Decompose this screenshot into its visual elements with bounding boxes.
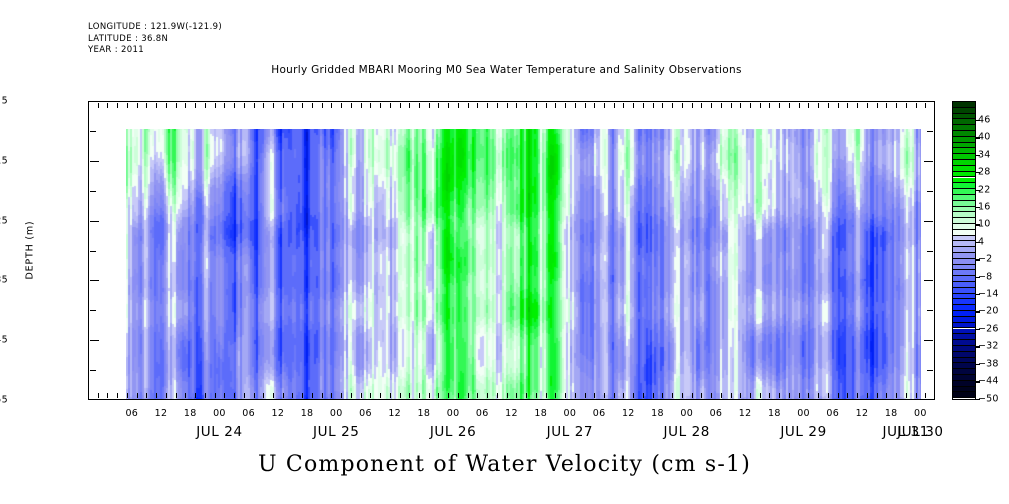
axis-tick [633,393,634,398]
axis-tick [117,393,118,398]
axis-tick [924,340,933,341]
axis-tick [769,393,770,398]
axis-tick [526,393,527,398]
axis-tick [263,393,264,398]
colorbar-tick [975,364,980,365]
axis-tick [322,393,323,398]
x-axis-hour-label: 06 [826,408,839,419]
axis-tick [146,393,147,398]
axis-tick [877,393,878,398]
x-axis-hour-label: 06 [242,408,255,419]
axis-tick [711,103,712,108]
axis-tick [555,103,556,108]
axis-tick [458,393,459,398]
axis-tick [682,103,683,108]
axis-tick [507,393,508,398]
axis-tick [896,393,897,398]
axis-tick [254,393,255,398]
axis-tick [575,393,576,398]
axis-tick [623,103,624,108]
axis-tick [185,393,186,398]
x-axis-hour-label: 00 [797,408,810,419]
axis-tick [477,393,478,398]
axis-tick [98,103,99,108]
axis-tick [614,393,615,398]
axis-tick [283,393,284,398]
y-axis-tick-label: 5 [2,96,8,107]
axis-tick [594,393,595,398]
axis-tick [789,103,790,108]
axis-tick [380,103,381,108]
x-axis-day-label: JUL 25 [313,424,359,440]
axis-tick [254,103,255,108]
axis-tick [672,103,673,108]
x-axis-hour-label: 18 [651,408,664,419]
axis-tick [838,393,839,398]
axis-tick [769,103,770,108]
heatmap-plot-frame [88,101,935,400]
axis-tick [585,393,586,398]
axis-tick [877,103,878,108]
axis-tick [789,393,790,398]
axis-tick [750,393,751,398]
axis-tick [818,103,819,108]
axis-tick [740,393,741,398]
axis-tick [701,393,702,398]
axis-tick [448,103,449,108]
x-axis-hour-labels: 0612180006121800061218000612180006121800… [0,408,1009,422]
axis-tick [808,393,809,398]
x-axis-day-label: JUL 28 [664,424,710,440]
axis-tick [390,393,391,398]
x-axis-hour-label: 00 [330,408,343,419]
colorbar-tick [975,329,980,330]
axis-tick [760,393,761,398]
station-metadata: LONGITUDE : 121.9W(-121.9) LATITUDE : 36… [88,22,222,57]
axis-tick [847,103,848,108]
axis-tick [604,393,605,398]
axis-tick [215,103,216,108]
x-axis-day-label: JUL 26 [430,424,476,440]
axis-tick [924,280,933,281]
colorbar-tick-label: −8 [978,271,992,282]
axis-tick [263,103,264,108]
x-axis-hour-label: 12 [271,408,284,419]
page-title: Hourly Gridded MBARI Mooring M0 Sea Wate… [0,64,1009,76]
colorbar-tick-label: −50 [978,393,999,404]
axis-tick [585,103,586,108]
axis-tick [701,103,702,108]
axis-tick [643,103,644,108]
axis-tick [857,103,858,108]
axis-tick [662,393,663,398]
axis-tick [633,103,634,108]
axis-tick [927,191,933,192]
axis-tick [166,103,167,108]
axis-tick [927,251,933,252]
axis-tick [331,393,332,398]
x-axis-hour-label: 18 [885,408,898,419]
axis-tick [672,393,673,398]
x-axis-hour-label: 12 [388,408,401,419]
axis-tick [90,370,96,371]
x-axis-hour-label: 18 [301,408,314,419]
axis-tick [137,393,138,398]
axis-tick [448,393,449,398]
axis-tick [244,103,245,108]
colorbar-tick [975,294,980,295]
x-axis-hour-label: 00 [564,408,577,419]
axis-tick [536,103,537,108]
axis-tick [312,103,313,108]
axis-tick [331,103,332,108]
axis-tick [302,393,303,398]
axis-tick [117,103,118,108]
axis-tick [370,103,371,108]
axis-tick [146,103,147,108]
axis-tick [546,393,547,398]
colorbar-tick-label: −26 [978,323,999,334]
axis-tick [195,103,196,108]
axis-tick [166,393,167,398]
axis-tick [98,393,99,398]
axis-tick [828,393,829,398]
axis-tick [468,103,469,108]
axis-tick [185,103,186,108]
axis-tick [205,393,206,398]
axis-tick [692,103,693,108]
axis-tick [127,393,128,398]
axis-tick [234,393,235,398]
axis-tick [779,103,780,108]
axis-tick [458,103,459,108]
colorbar-tick-label: −44 [978,376,999,387]
x-axis-day-labels: JUL 24JUL 25JUL 26JUL 27JUL 28JUL 29JUL … [0,424,1009,442]
x-axis-hour-label: 00 [447,408,460,419]
axis-tick [721,103,722,108]
axis-tick [438,103,439,108]
colorbar-tick [975,277,980,278]
axis-tick [370,393,371,398]
axis-tick [156,393,157,398]
axis-tick [127,103,128,108]
colorbar-tick-label: −38 [978,358,999,369]
axis-tick [390,103,391,108]
axis-tick [896,103,897,108]
axis-tick [90,221,99,222]
axis-tick [867,393,868,398]
x-axis-hour-label: 00 [213,408,226,419]
y-axis-tick-label: 35 [0,275,8,286]
axis-tick [90,310,96,311]
axis-tick [137,103,138,108]
axis-tick [516,103,517,108]
axis-tick [419,103,420,108]
axis-tick [886,393,887,398]
axis-tick [653,393,654,398]
axis-tick [351,103,352,108]
axis-tick [90,340,99,341]
axis-tick [107,103,108,108]
axis-tick [692,393,693,398]
axis-tick [90,191,96,192]
axis-tick [653,103,654,108]
axis-tick [292,393,293,398]
axis-tick [740,103,741,108]
axis-tick [302,103,303,108]
colorbar-tick [975,120,980,121]
axis-tick [847,393,848,398]
axis-tick [176,103,177,108]
y-axis-tick-label: 15 [0,155,8,166]
axis-tick [565,393,566,398]
axis-tick [176,393,177,398]
axis-tick [380,393,381,398]
axis-tick [90,280,99,281]
axis-tick [750,103,751,108]
colorbar-tick [975,155,980,156]
axis-tick [779,393,780,398]
axis-tick [400,393,401,398]
y-axis-tick-label: 45 [0,335,8,346]
axis-tick [886,103,887,108]
colorbar-tick [975,381,980,382]
axis-tick [555,393,556,398]
colorbar-tick [975,242,980,243]
axis-tick [818,393,819,398]
x-axis-hour-label: 06 [710,408,723,419]
y-axis-title: DEPTH (m) [25,221,36,280]
axis-tick [925,393,926,398]
heatmap-data-field [126,129,921,400]
axis-tick [215,393,216,398]
x-axis-day-label: JUL 27 [547,424,593,440]
axis-tick [604,103,605,108]
axis-tick [927,131,933,132]
colorbar-tick [975,259,980,260]
colorbar-tick-label: −20 [978,306,999,317]
x-axis-hour-label: 18 [768,408,781,419]
axis-tick [594,103,595,108]
axis-tick [487,393,488,398]
axis-tick [565,103,566,108]
x-axis-hour-label: 12 [739,408,752,419]
x-axis-hour-label: 00 [680,408,693,419]
axis-tick [828,103,829,108]
axis-tick [224,393,225,398]
axis-tick [90,251,96,252]
x-axis-day-label: JUL 29 [780,424,826,440]
axis-tick [400,103,401,108]
axis-tick [477,103,478,108]
colorbar-tick-label: −32 [978,341,999,352]
colorbar-tick [975,207,980,208]
axis-tick [838,103,839,108]
axis-tick [234,103,235,108]
y-axis-tick-label: 55 [0,395,8,406]
axis-tick [487,103,488,108]
axis-tick [224,103,225,108]
x-axis-hour-label: 00 [914,408,927,419]
x-axis-hour-label: 06 [593,408,606,419]
axis-tick [341,103,342,108]
axis-tick [536,393,537,398]
axis-tick [468,393,469,398]
axis-tick [312,393,313,398]
axis-tick [409,393,410,398]
colorbar [952,101,976,400]
y-axis-tick-label: 25 [0,215,8,226]
axis-tick [419,393,420,398]
axis-tick [808,103,809,108]
axis-tick [906,103,907,108]
x-axis-hour-label: 12 [856,408,869,419]
x-axis-hour-label: 12 [505,408,518,419]
axis-tick [927,370,933,371]
x-axis-hour-label: 18 [184,408,197,419]
colorbar-tick [975,399,980,400]
axis-tick [623,393,624,398]
figure-caption: U Component of Water Velocity (cm s-1) [0,452,1009,477]
x-axis-hour-label: 06 [125,408,138,419]
axis-tick [497,393,498,398]
axis-tick [643,393,644,398]
colorbar-tick [975,190,980,191]
axis-tick [614,103,615,108]
page-title-text: Hourly Gridded MBARI Mooring M0 Sea Wate… [271,64,741,76]
x-axis-day-label: JUL 24 [196,424,242,440]
x-axis-hour-label: 18 [534,408,547,419]
x-axis-hour-label: 18 [418,408,431,419]
axis-tick [546,103,547,108]
axis-tick [322,103,323,108]
axis-tick [916,393,917,398]
axis-tick [721,393,722,398]
axis-tick [90,161,99,162]
axis-tick [799,393,800,398]
axis-tick [292,103,293,108]
axis-tick [916,103,917,108]
longitude-label: LONGITUDE : 121.9W(-121.9) [88,22,222,32]
axis-tick [682,393,683,398]
colorbar-band [953,392,975,398]
axis-tick [156,103,157,108]
axis-tick [429,103,430,108]
axis-tick [731,393,732,398]
axis-tick [857,393,858,398]
axis-tick [429,393,430,398]
axis-tick [924,161,933,162]
colorbar-tick [975,311,980,312]
axis-tick [731,103,732,108]
axis-tick [507,103,508,108]
colorbar-tick [975,137,980,138]
colorbar-tick-label: −14 [978,289,999,300]
axis-tick [526,103,527,108]
axis-tick [662,103,663,108]
axis-tick [760,103,761,108]
latitude-label: LATITUDE : 36.8N [88,34,168,44]
axis-tick [341,393,342,398]
x-axis-hour-label: 06 [476,408,489,419]
axis-tick [205,103,206,108]
colorbar-labels: 464034282216104−2−8−14−20−26−32−38−44−50 [978,101,1009,411]
year-label: YEAR : 2011 [88,45,144,55]
axis-tick [90,131,96,132]
axis-tick [107,393,108,398]
axis-tick [351,393,352,398]
axis-tick [906,393,907,398]
axis-tick [273,103,274,108]
axis-tick [409,103,410,108]
axis-tick [575,103,576,108]
axis-tick [516,393,517,398]
axis-tick [244,393,245,398]
axis-tick [195,393,196,398]
axis-tick [924,221,933,222]
x-axis-day-label: JUL 31 [883,424,929,440]
x-axis-hour-label: 12 [155,408,168,419]
axis-tick [867,103,868,108]
heatmap-canvas [126,129,921,400]
axis-tick [711,393,712,398]
colorbar-tick [975,172,980,173]
axis-tick [361,103,362,108]
axis-tick [497,103,498,108]
axis-tick [799,103,800,108]
x-axis-hour-label: 06 [359,408,372,419]
axis-tick [361,393,362,398]
colorbar-tick [975,224,980,225]
colorbar-tick-label: −2 [978,254,992,265]
colorbar-tick [975,346,980,347]
axis-tick [273,393,274,398]
axis-tick [927,310,933,311]
axis-tick [925,103,926,108]
x-axis-hour-label: 12 [622,408,635,419]
axis-tick [283,103,284,108]
axis-tick [438,393,439,398]
